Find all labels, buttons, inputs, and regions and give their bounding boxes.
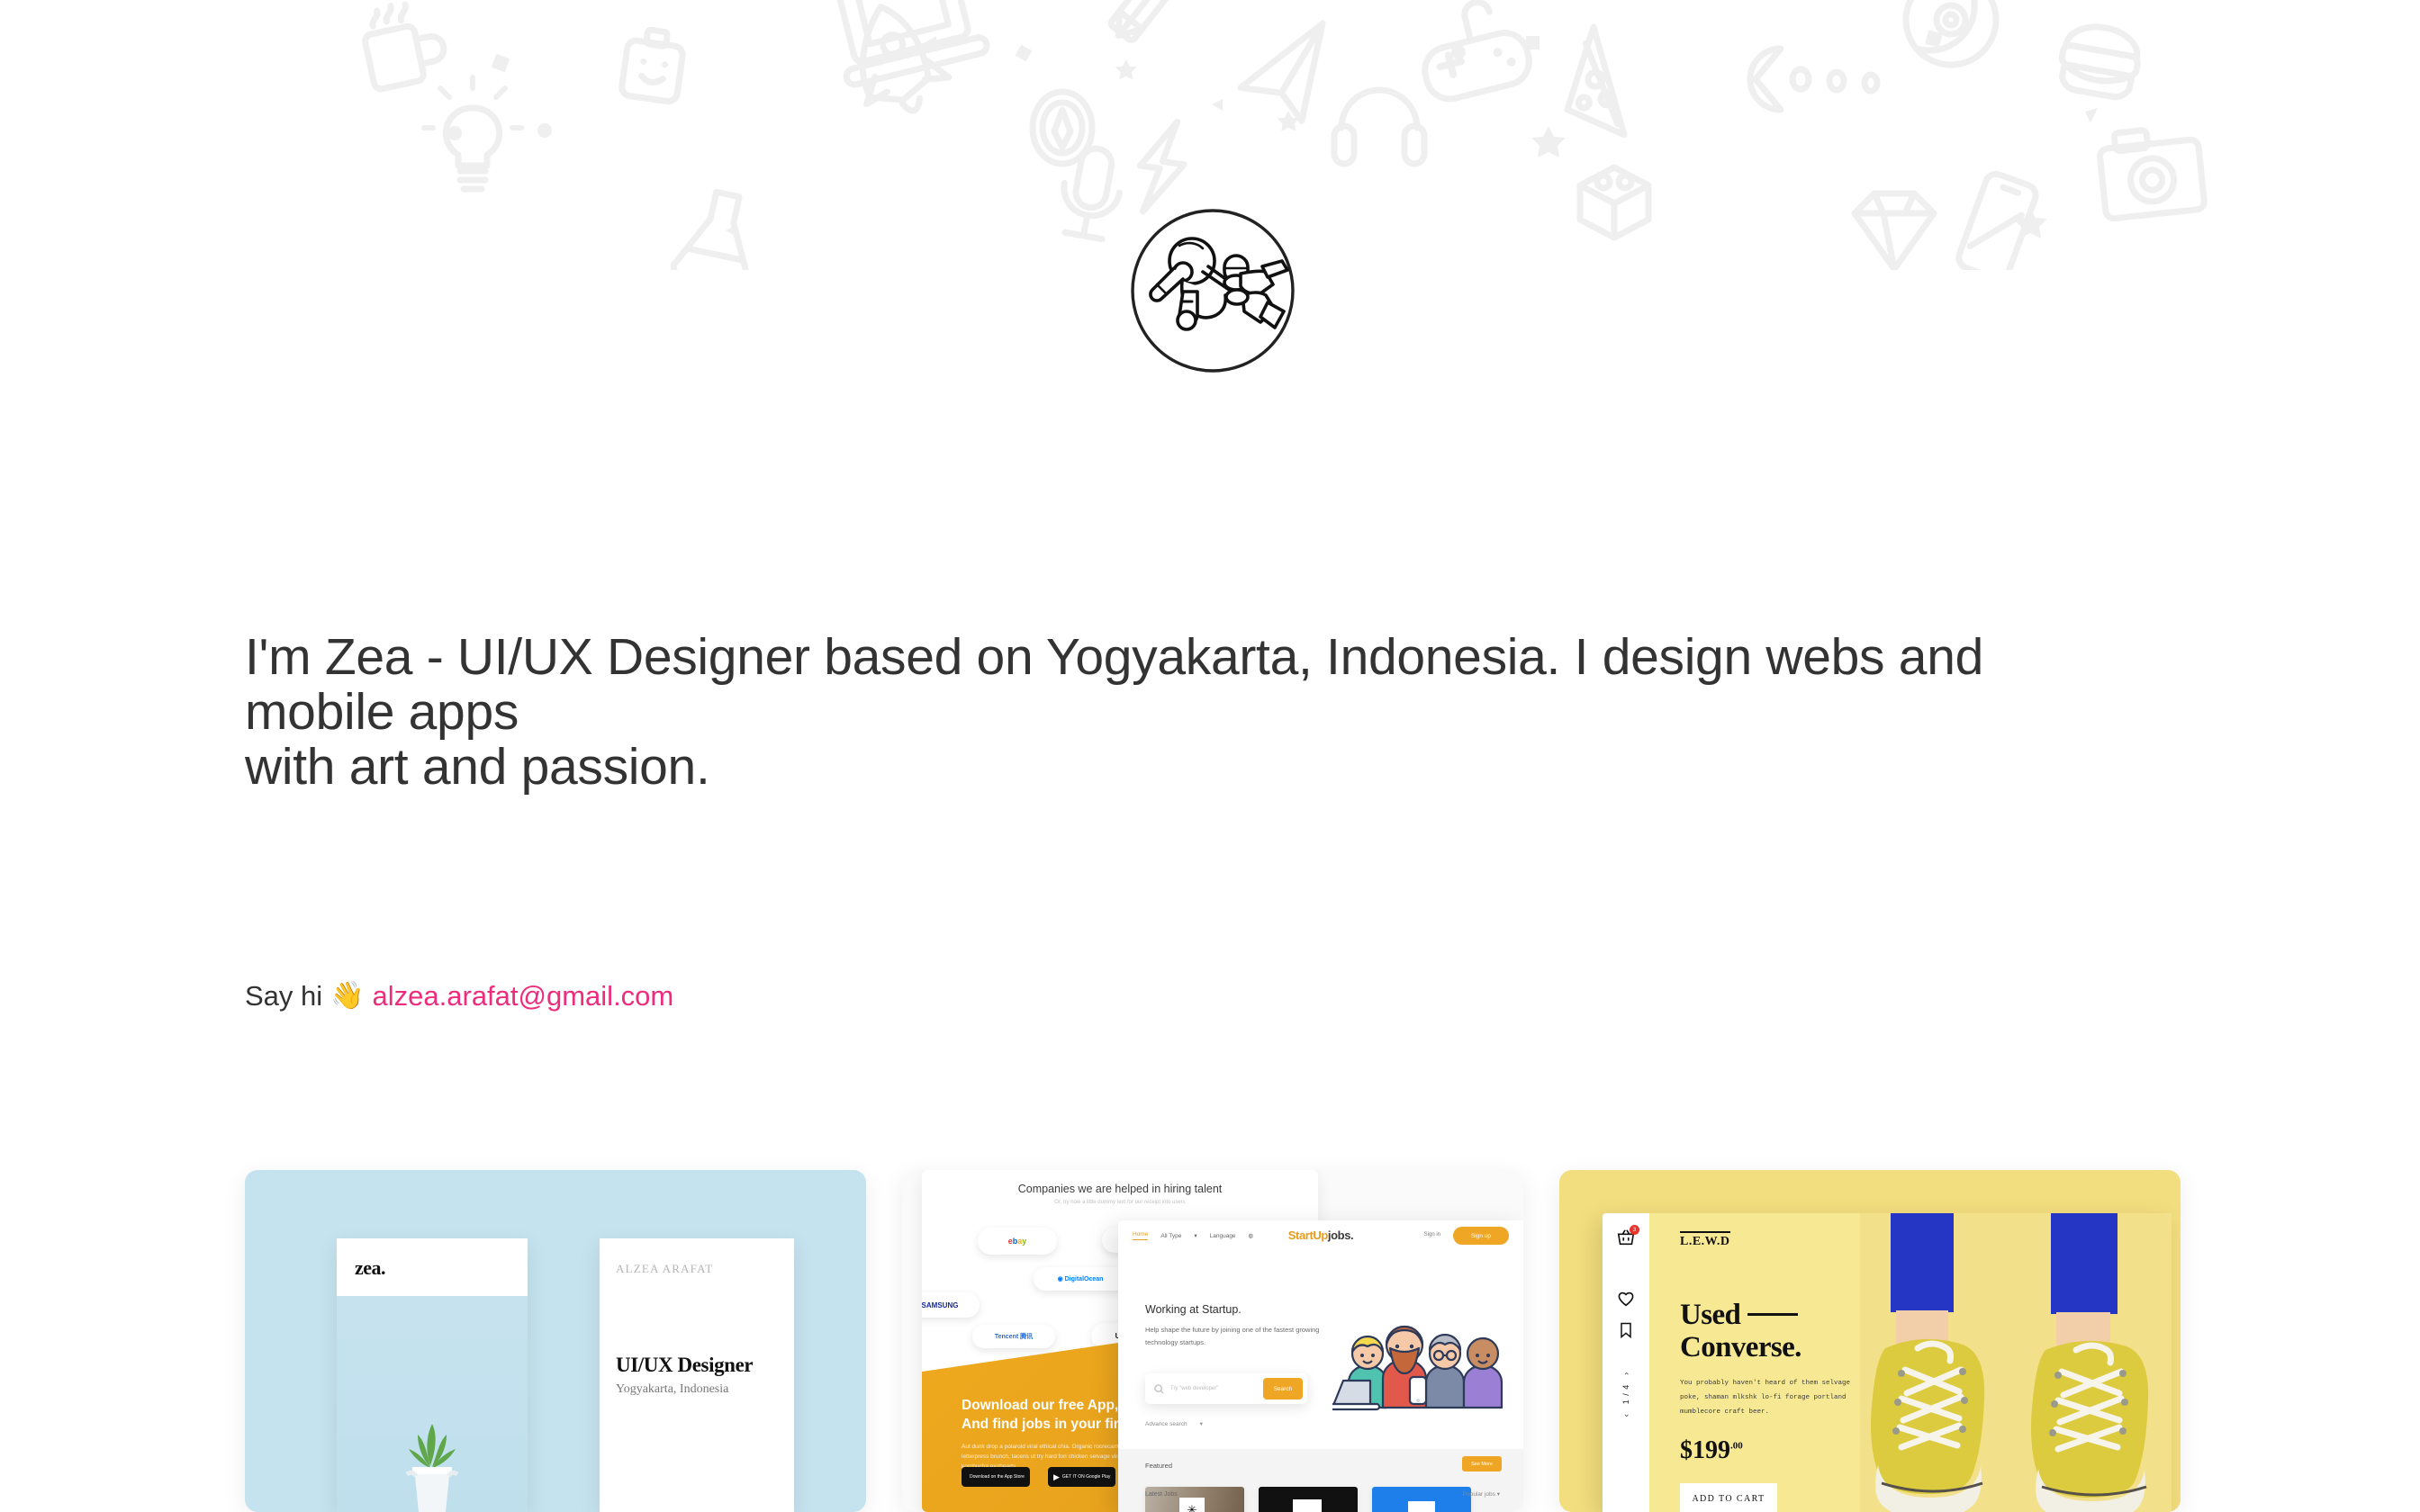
person-name: ALZEA ARAFAT — [616, 1262, 713, 1276]
search-placeholder: Try "web developer" — [1170, 1386, 1218, 1391]
say-hi-label: Say hi — [245, 979, 322, 1012]
job-thumbnail: UBER — [1259, 1487, 1358, 1512]
diamond-icon — [1855, 193, 1934, 269]
job-thumbnail: ◈ — [1372, 1487, 1471, 1512]
lightning-bolt-icon — [1133, 118, 1189, 217]
startupjobs-home-page: Home All Type ▾ Language ◍ StartUpjobs. … — [1118, 1220, 1523, 1512]
rocket-icon — [839, 0, 955, 124]
sign-in-link[interactable]: Sign in — [1424, 1232, 1440, 1237]
job-card[interactable]: ◈ Python Developer Dropbox Inc. Remote |… — [1372, 1487, 1471, 1512]
pagination-value: 1 / 4 — [1621, 1384, 1630, 1405]
shopping-basket-icon[interactable]: 3 — [1616, 1228, 1636, 1252]
email-link[interactable]: alzea.arafat@gmail.com — [373, 979, 674, 1012]
astronaut-figure — [1151, 238, 1287, 329]
product-photo — [1860, 1213, 2172, 1512]
nav-all-type[interactable]: All Type — [1160, 1233, 1181, 1239]
portfolio-page: I'm Zea - UI/UX Designer based on Yogyak… — [0, 0, 2420, 1512]
laptop-icon — [823, 0, 989, 86]
product-description: You probably haven't heard of them selva… — [1680, 1377, 1860, 1419]
contact-line: Say hi 👋 alzea.arafat@gmail.com — [245, 979, 673, 1012]
page-headline: I'm Zea - UI/UX Designer based on Yogyak… — [245, 630, 2045, 795]
dots-icon — [1792, 69, 1877, 91]
person-location: Yogyakarta, Indonesia — [616, 1382, 728, 1397]
title-rule — [1747, 1313, 1798, 1316]
job-search-box[interactable]: Try "web developer" Search — [1145, 1373, 1307, 1404]
slide-pagination[interactable]: ‹ 1 / 4 › — [1621, 1372, 1630, 1417]
hero-title: Working at Startup. — [1145, 1303, 1242, 1316]
startupjobs-logo: StartUpjobs. — [1288, 1228, 1354, 1242]
gamepad-icon — [1412, 0, 1534, 103]
lego-head-icon — [620, 27, 685, 103]
google-play-button[interactable]: ▶ GET IT ON Google Play — [1048, 1467, 1115, 1487]
heart-icon[interactable] — [1616, 1289, 1636, 1313]
bookmark-icon[interactable] — [1617, 1321, 1635, 1344]
globe-icon: ◍ — [1249, 1232, 1254, 1239]
astronaut-logo[interactable] — [1127, 205, 1298, 376]
companies-subheading: Or, try now a little dummy text for our … — [922, 1200, 1318, 1205]
project-card-lewd[interactable]: 3 ‹ 1 / 4 › — [1559, 1170, 2181, 1512]
chevron-down-icon: ▾ — [1497, 1491, 1500, 1498]
play-icon: ▶ — [1053, 1472, 1060, 1482]
nav-home[interactable]: Home — [1133, 1231, 1148, 1240]
pencil-icon — [1107, 0, 1193, 45]
smartphone-icon — [1955, 171, 2038, 270]
brand-mark: zea. — [355, 1256, 385, 1280]
chevron-down-icon: ▾ — [1200, 1420, 1203, 1427]
companies-heading: Companies we are helped in hiring talent — [922, 1183, 1318, 1195]
chevron-down-icon[interactable]: ‹ — [1621, 1413, 1630, 1417]
company-chip-ebay: ebay — [978, 1228, 1057, 1255]
advance-search-toggle[interactable]: Advance search ▾ — [1145, 1420, 1203, 1427]
chevron-down-icon: ▾ — [1194, 1232, 1196, 1239]
business-card-front: zea. — [337, 1238, 528, 1512]
burger-icon — [2056, 22, 2143, 100]
project-cards: zea. ALZEA ARAFAT UI/UX Designer — [0, 1170, 2420, 1512]
company-chip-digitalocean: ◉ DigitalOcean — [1034, 1267, 1127, 1291]
dropbox-icon: ◈ — [1408, 1501, 1435, 1512]
compass-icon — [1033, 92, 1092, 164]
latest-jobs-label: Latest Jobs — [1145, 1491, 1178, 1498]
featured-label: Featured — [1145, 1462, 1172, 1470]
coffee-mug-icon — [359, 0, 449, 90]
project-card-startupjobs[interactable]: Companies we are helped in hiring talent… — [902, 1170, 1523, 1512]
slack-icon: ✳ — [1179, 1498, 1205, 1512]
add-to-cart-button[interactable]: ADD TO CART — [1680, 1483, 1777, 1512]
plant-photo — [378, 1404, 486, 1512]
camera-icon — [2098, 125, 2205, 220]
company-chip-tencent: Tencent 腾讯 — [972, 1325, 1055, 1348]
lego-brick-icon — [1580, 167, 1648, 238]
company-chip-samsung: SAMSUNG — [922, 1292, 980, 1318]
project-card-branding[interactable]: zea. ALZEA ARAFAT UI/UX Designer — [245, 1170, 866, 1512]
product-price: $199.00 — [1680, 1436, 1743, 1465]
popular-jobs-dropdown[interactable]: Popular jobs ▾ — [1463, 1490, 1500, 1498]
chevron-up-icon[interactable]: › — [1621, 1372, 1630, 1375]
lewd-brand-mark: L.E.W.D — [1680, 1231, 1730, 1249]
cd-disc-icon — [1906, 0, 1996, 65]
nav-language[interactable]: Language — [1210, 1233, 1236, 1239]
headphones-icon — [1334, 90, 1424, 164]
lightbulb-icon — [424, 77, 521, 189]
app-store-button[interactable]: Download on the App Store — [962, 1467, 1030, 1487]
search-icon — [1154, 1384, 1164, 1394]
waving-hand-icon: 👋 — [330, 983, 364, 1010]
featured-section: Featured See More ✳ UI & UX Designer Sla… — [1118, 1449, 1523, 1512]
see-more-button[interactable]: See More — [1462, 1456, 1502, 1471]
paper-plane-icon — [1233, 23, 1336, 129]
pacman-icon — [1750, 49, 1781, 110]
side-rail: 3 ‹ 1 / 4 › — [1603, 1213, 1649, 1512]
uber-icon: UBER — [1293, 1499, 1322, 1512]
lewd-shop-page: 3 ‹ 1 / 4 › — [1603, 1213, 2172, 1512]
pizza-icon — [1565, 26, 1648, 135]
hero-subtitle: Help shape the future by joining one of … — [1145, 1324, 1334, 1350]
business-card-back: ALZEA ARAFAT UI/UX Designer Yogyakarta, … — [600, 1238, 794, 1512]
flask-icon — [673, 186, 765, 270]
sign-up-button[interactable]: Sign up — [1453, 1227, 1509, 1245]
job-card[interactable]: UBER Front-end Developer Uber Indonesia … — [1259, 1487, 1358, 1512]
search-button[interactable]: Search — [1263, 1378, 1303, 1399]
person-role: UI/UX Designer — [616, 1354, 753, 1377]
cart-badge: 3 — [1630, 1225, 1639, 1235]
product-title: Used Converse. — [1680, 1300, 1801, 1363]
microphone-icon — [1056, 144, 1126, 240]
team-illustration — [1332, 1307, 1503, 1411]
